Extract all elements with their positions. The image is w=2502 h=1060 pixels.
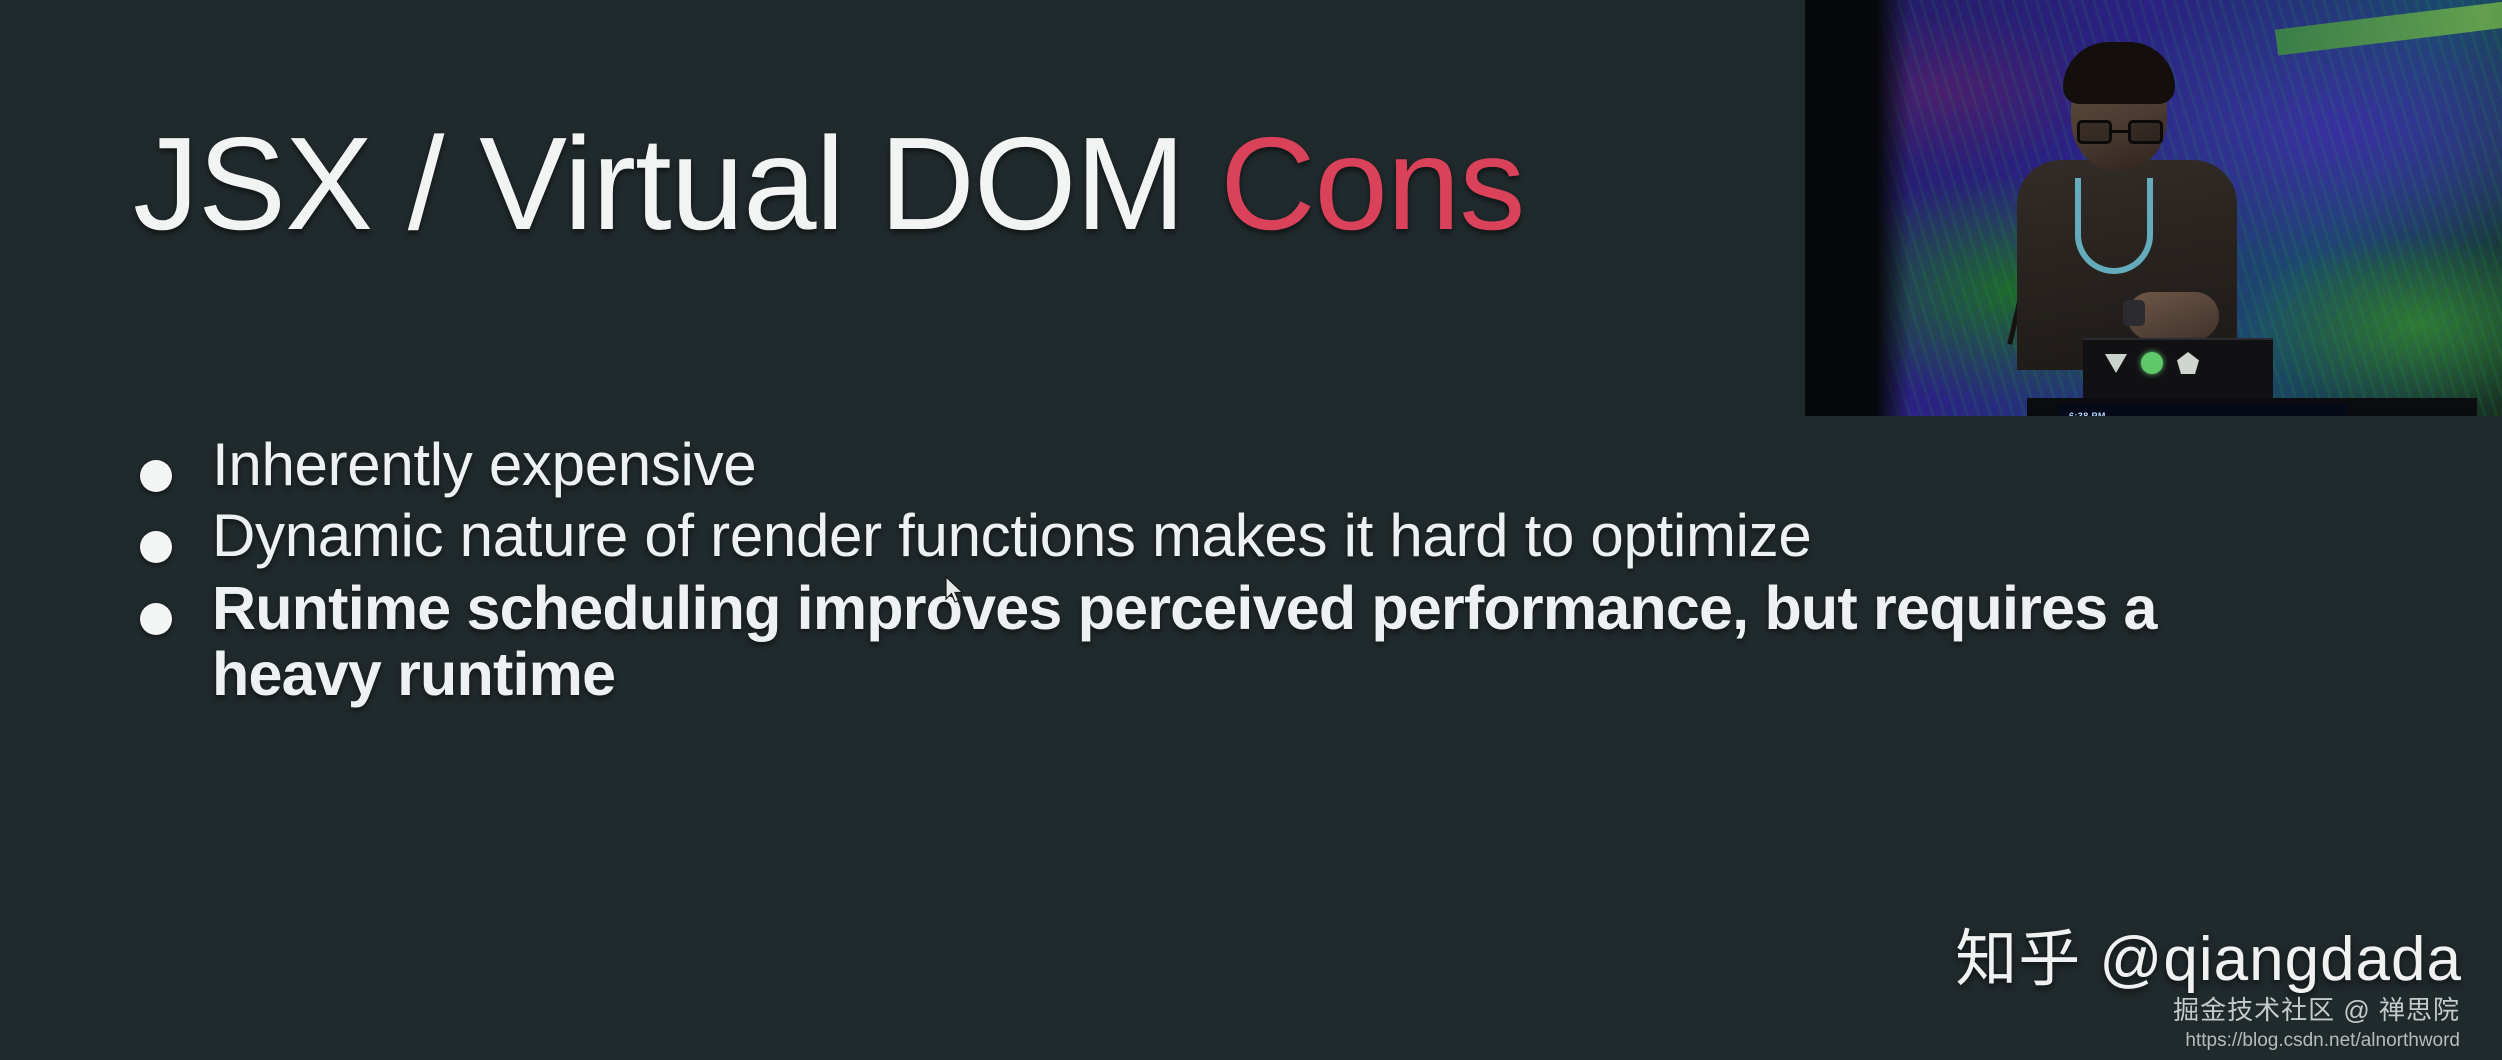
vue-triangle-sticker-icon — [2105, 354, 2127, 373]
lanyard — [2075, 178, 2153, 274]
list-item: Dynamic nature of render functions makes… — [140, 503, 2280, 568]
bullet-dot-icon — [140, 531, 172, 563]
podium-confidence-monitor: 6:38 PM SEEKING THE BALANCE IN FRAMEWORK… — [2057, 404, 2347, 416]
presentation-slide: JSX / Virtual DOM Cons Inherently expens… — [0, 0, 2502, 1060]
bullet-dot-icon — [140, 460, 172, 492]
slide-title: JSX / Virtual DOM Cons — [133, 118, 1524, 250]
watermark-secondary: 掘金技术社区 @ 禅思院 — [2173, 990, 2460, 1027]
glasses-icon — [2077, 120, 2163, 144]
slide-title-accent: Cons — [1220, 110, 1524, 257]
list-item: Inherently expensive — [140, 432, 2280, 497]
bullet-text: Inherently expensive — [212, 432, 2280, 497]
bullet-text: Runtime scheduling improves perceived pe… — [212, 575, 2280, 708]
wristwatch — [2123, 300, 2145, 326]
list-item: Runtime scheduling improves perceived pe… — [140, 575, 2280, 708]
bullet-list: Inherently expensive Dynamic nature of r… — [140, 432, 2280, 714]
speaker-hair — [2063, 42, 2175, 104]
pentagon-sticker-icon — [2177, 352, 2199, 374]
laptop-stickers — [2105, 352, 2199, 374]
speaker-video-overlay[interactable]: 6:38 PM SEEKING THE BALANCE IN FRAMEWORK… — [1805, 0, 2502, 416]
stage-left-shadow — [1805, 0, 1910, 416]
podium-time: 6:38 PM — [2069, 410, 2335, 416]
bullet-text: Dynamic nature of render functions makes… — [212, 503, 2280, 568]
watermark-url: https://blog.csdn.net/alnorthword — [2185, 1030, 2460, 1052]
watermark-primary: 知乎 @qiangdada — [1955, 908, 2462, 998]
green-circle-sticker-icon — [2141, 352, 2163, 374]
bullet-dot-icon — [140, 603, 172, 635]
slide-title-primary: JSX / Virtual DOM — [133, 110, 1220, 257]
